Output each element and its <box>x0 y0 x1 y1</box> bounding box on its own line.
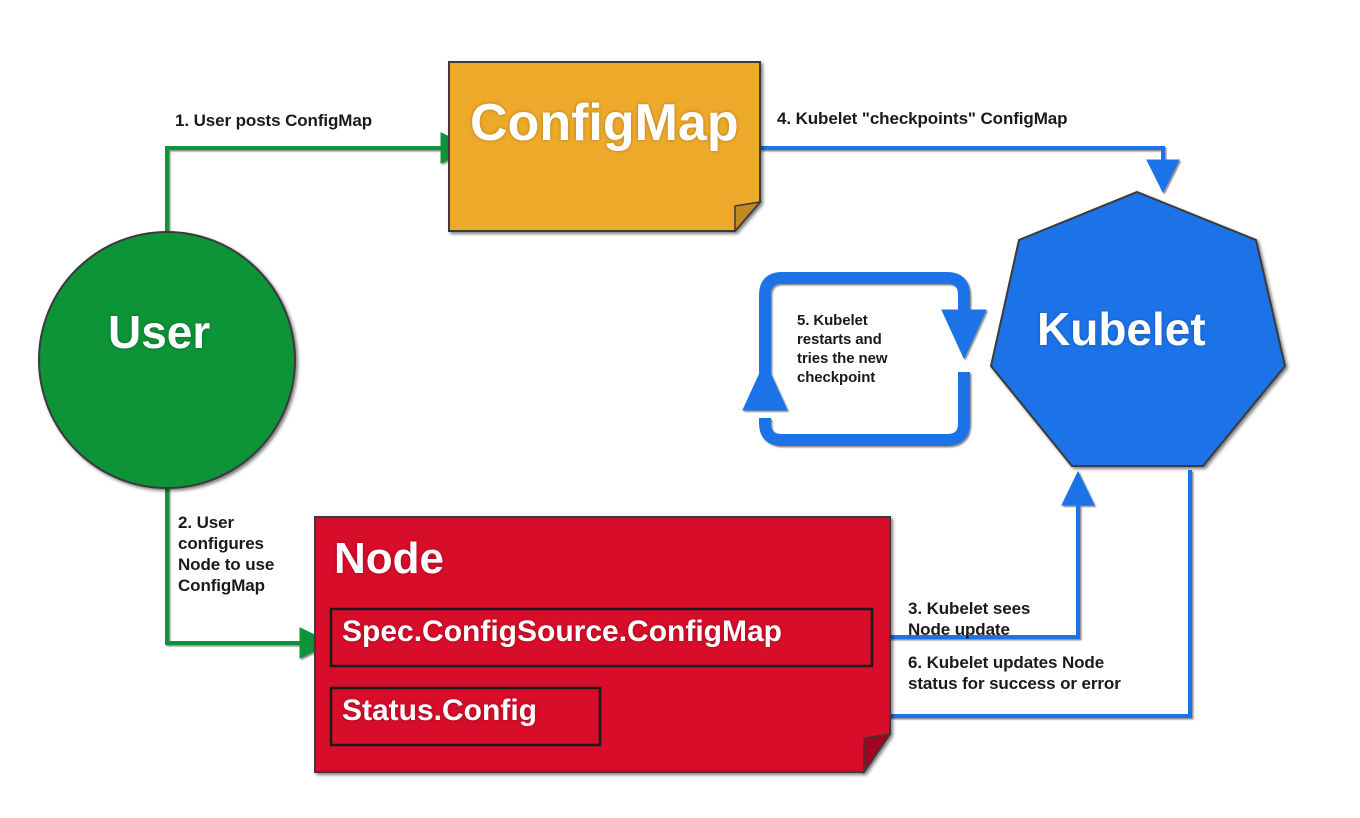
node-node[interactable] <box>315 517 890 772</box>
node-configmap[interactable] <box>449 62 760 231</box>
edge-label-step-5: 5. Kubelet restarts and tries the new ch… <box>797 311 887 387</box>
node-fold-corner <box>864 734 890 772</box>
edge-step-4 <box>760 148 1179 192</box>
diagram-canvas: User ConfigMap Kubelet Node Spec.ConfigS… <box>0 0 1360 818</box>
configmap-fold-corner <box>735 202 760 231</box>
edge-label-step-1: 1. User posts ConfigMap <box>175 110 372 131</box>
edge-label-step-3: 3. Kubelet sees Node update <box>908 598 1030 640</box>
edge-label-step-6: 6. Kubelet updates Node status for succe… <box>908 652 1121 694</box>
node-kubelet[interactable] <box>991 192 1285 466</box>
node-user[interactable] <box>39 232 295 488</box>
edge-label-step-2: 2. User configures Node to use ConfigMap <box>178 512 274 596</box>
edge-step-1 <box>167 133 472 255</box>
edge-label-step-4: 4. Kubelet "checkpoints" ConfigMap <box>777 108 1067 129</box>
